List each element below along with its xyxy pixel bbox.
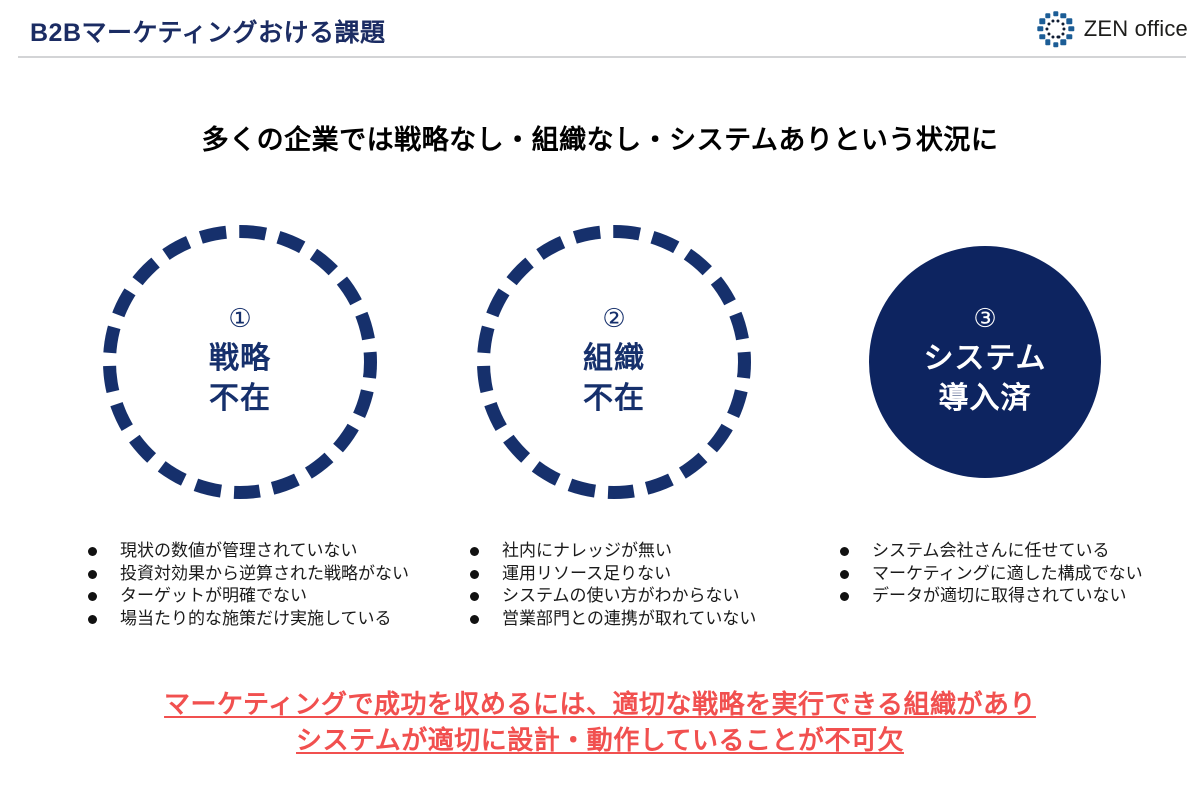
bullet-dot-icon: [470, 592, 479, 601]
bullet-list-3: システム会社さんに任せているマーケティングに適した構成でないデータが適切に取得さ…: [840, 540, 1143, 608]
list-item-label: 営業部門との連携が取れていない: [502, 608, 756, 631]
circle-shape-1: ①戦略不在: [103, 225, 377, 499]
bullet-dot-icon: [470, 547, 479, 556]
logo-dot-outer: [1053, 11, 1058, 16]
logo-dot-inner: [1057, 36, 1060, 39]
logo-dot-outer: [1037, 26, 1042, 31]
logo-dot-outer: [1066, 34, 1071, 39]
conclusion-line-1: マーケティングで成功を収めるには、適切な戦略を実行できる組織があり: [0, 686, 1200, 722]
circle-label-line2: 不在: [583, 379, 645, 419]
circle-card-3[interactable]: ③システム導入済: [835, 212, 1135, 512]
brand-logo-label: ZEN office: [1084, 16, 1188, 42]
logo-dot-outer: [1040, 19, 1045, 24]
circle-label-line2: 導入済: [923, 379, 1046, 419]
list-item: 営業部門との連携が取れていない: [470, 608, 756, 631]
conclusion-line-2: システムが適切に設計・動作していることが不可欠: [0, 722, 1200, 758]
slide-header: B2Bマーケティングおける課題 ZEN office: [0, 0, 1200, 57]
list-item-label: 現状の数値が管理されていない: [120, 540, 358, 563]
list-item: 投資対効果から逆算された戦略がない: [88, 563, 409, 586]
list-item-label: 投資対効果から逆算された戦略がない: [120, 563, 409, 586]
list-item: データが適切に取得されていない: [840, 585, 1143, 608]
circles-row: ①戦略不在②組織不在③システム導入済: [0, 212, 1200, 512]
logo-dot-outer: [1068, 26, 1073, 31]
list-item: システムの使い方がわからない: [470, 585, 756, 608]
circle-number-1: ①: [228, 305, 251, 331]
bullet-dot-icon: [840, 592, 849, 601]
logo-dot-inner: [1047, 33, 1050, 36]
bullet-lists: 現状の数値が管理されていない投資対効果から逆算された戦略がないターゲットが明確で…: [0, 540, 1200, 640]
logo-dot-outer: [1061, 40, 1066, 45]
logo-dot-outer: [1053, 42, 1058, 47]
logo-dot-inner: [1047, 22, 1050, 25]
logo-dot-inner: [1051, 19, 1054, 22]
list-item-label: システム会社さんに任せている: [872, 540, 1110, 563]
circle-card-1[interactable]: ①戦略不在: [90, 212, 390, 512]
circle-card-2[interactable]: ②組織不在: [464, 212, 764, 512]
header-divider: [18, 56, 1186, 58]
bullet-dot-icon: [88, 547, 97, 556]
bullet-dot-icon: [88, 570, 97, 579]
list-item-label: マーケティングに適した構成でない: [872, 563, 1143, 586]
slide-subtitle: 多くの企業では戦略なし・組織なし・システムありという状況に: [0, 118, 1200, 157]
circle-label-3: システム導入済: [923, 339, 1046, 418]
circle-label-line1: 戦略: [209, 339, 271, 379]
list-item-label: システムの使い方がわからない: [502, 585, 740, 608]
list-item-label: 場当たり的な施策だけ実施している: [120, 608, 392, 631]
circle-label-2: 組織不在: [583, 339, 645, 418]
circle-label-line1: システム: [923, 339, 1046, 379]
logo-dot-outer: [1066, 19, 1071, 24]
logo-dot-inner: [1052, 36, 1055, 39]
bullet-dot-icon: [470, 570, 479, 579]
bullet-dot-icon: [840, 570, 849, 579]
conclusion-statement: マーケティングで成功を収めるには、適切な戦略を実行できる組織があり システムが適…: [0, 686, 1200, 758]
bullet-list-2: 社内にナレッジが無い運用リソース足りないシステムの使い方がわからない営業部門との…: [470, 540, 756, 630]
circle-number-3: ③: [973, 305, 996, 331]
zen-circle-dots-logo-icon: [1035, 8, 1077, 50]
circle-number-2: ②: [602, 305, 625, 331]
logo-dot-inner: [1061, 32, 1064, 35]
list-item: 現状の数値が管理されていない: [88, 540, 409, 563]
list-item-label: ターゲットが明確でない: [120, 585, 307, 608]
list-item: マーケティングに適した構成でない: [840, 563, 1143, 586]
logo-dot-inner: [1057, 19, 1060, 22]
bullet-dot-icon: [840, 547, 849, 556]
logo-dot-outer: [1040, 34, 1045, 39]
circle-shape-3: ③システム導入済: [869, 246, 1101, 478]
list-item: 場当たり的な施策だけ実施している: [88, 608, 409, 631]
list-item: 運用リソース足りない: [470, 563, 756, 586]
list-item-label: 運用リソース足りない: [502, 563, 671, 586]
circle-label-line1: 組織: [583, 339, 645, 379]
circle-shape-2: ②組織不在: [477, 225, 751, 499]
logo-dot-outer: [1045, 13, 1050, 18]
logo-dot-inner: [1061, 22, 1064, 25]
list-item: ターゲットが明確でない: [88, 585, 409, 608]
list-item-label: 社内にナレッジが無い: [502, 540, 672, 563]
list-item-label: データが適切に取得されていない: [872, 585, 1127, 608]
bullet-dot-icon: [88, 615, 97, 624]
bullet-dot-icon: [470, 615, 479, 624]
circle-label-1: 戦略不在: [209, 339, 271, 418]
logo-dot-inner: [1063, 27, 1066, 30]
list-item: 社内にナレッジが無い: [470, 540, 756, 563]
logo-dot-outer: [1061, 13, 1066, 18]
logo-dot-outer: [1045, 40, 1050, 45]
list-item: システム会社さんに任せている: [840, 540, 1143, 563]
circle-label-line2: 不在: [209, 379, 271, 419]
logo-dot-inner: [1046, 28, 1049, 31]
page-title: B2Bマーケティングおける課題: [30, 13, 386, 49]
brand-logo: ZEN office: [1035, 8, 1188, 50]
bullet-list-1: 現状の数値が管理されていない投資対効果から逆算された戦略がないターゲットが明確で…: [88, 540, 409, 630]
bullet-dot-icon: [88, 592, 97, 601]
